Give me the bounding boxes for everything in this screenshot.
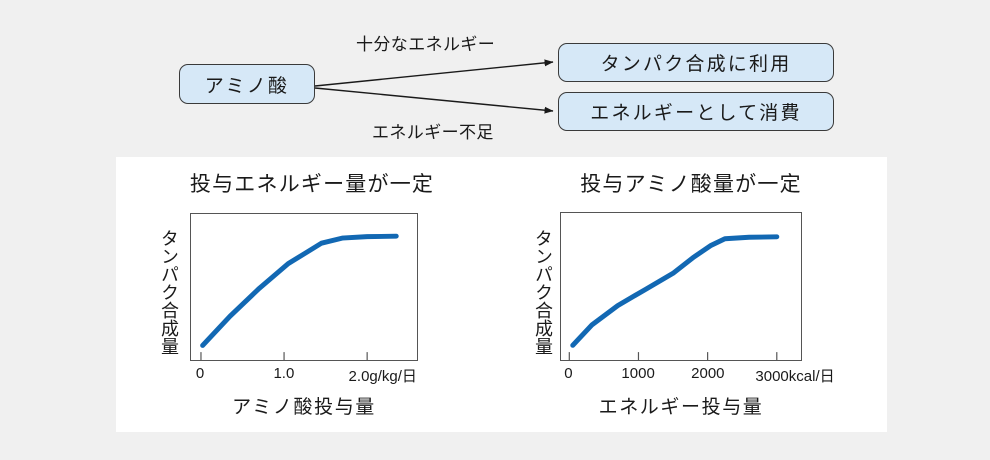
chart-xlabel-right: エネルギー投与量 <box>560 392 802 419</box>
x-tick-label: 1000 <box>621 365 654 382</box>
chart-xlabel-left: アミノ酸投与量 <box>190 392 418 419</box>
node-protein-synthesis: タンパク合成に利用 <box>558 43 834 82</box>
plot-line-left <box>191 214 417 360</box>
edge-label-energy-deficit: エネルギー不足 <box>372 118 494 143</box>
flow-diagram: アミノ酸 タンパク合成に利用 エネルギーとして消費 十分なエネルギー エネルギー… <box>0 0 990 155</box>
x-tick-label: 0 <box>196 365 204 382</box>
edge-label-sufficient-energy: 十分なエネルギー <box>356 30 495 55</box>
x-tick-label: 0 <box>564 365 572 382</box>
chart-energy-dose: 投与アミノ酸量が一定 タンパク合成量 0100020003000kcal/日 エ… <box>516 157 876 432</box>
node-energy-consumption: エネルギーとして消費 <box>558 92 834 131</box>
node-amino-acid: アミノ酸 <box>179 64 315 104</box>
x-axis-ticks-right: 0100020003000kcal/日 <box>560 365 802 387</box>
x-tick-label: 2.0g/kg/日 <box>349 365 417 386</box>
chart-title-left: 投与エネルギー量が一定 <box>162 168 462 198</box>
chart-amino-acid-dose: 投与エネルギー量が一定 タンパク合成量 01.02.0g/kg/日 アミノ酸投与… <box>134 157 494 432</box>
plot-area-left <box>190 213 418 361</box>
chart-ylabel-left: タンパク合成量 <box>157 207 179 377</box>
x-tick-label: 2000 <box>691 365 724 382</box>
x-axis-ticks-left: 01.02.0g/kg/日 <box>190 365 418 387</box>
flow-arrows <box>0 0 990 155</box>
chart-title-right: 投与アミノ酸量が一定 <box>526 168 856 198</box>
plot-line-right <box>561 213 801 360</box>
arrow-to-energy-consumption <box>315 88 553 111</box>
chart-ylabel-right: タンパク合成量 <box>531 207 553 377</box>
arrow-to-protein-synthesis <box>315 62 553 86</box>
x-tick-label: 3000kcal/日 <box>755 365 834 386</box>
x-tick-label: 1.0 <box>273 365 294 382</box>
chart-panel: 投与エネルギー量が一定 タンパク合成量 01.02.0g/kg/日 アミノ酸投与… <box>116 157 887 432</box>
plot-area-right <box>560 212 802 361</box>
